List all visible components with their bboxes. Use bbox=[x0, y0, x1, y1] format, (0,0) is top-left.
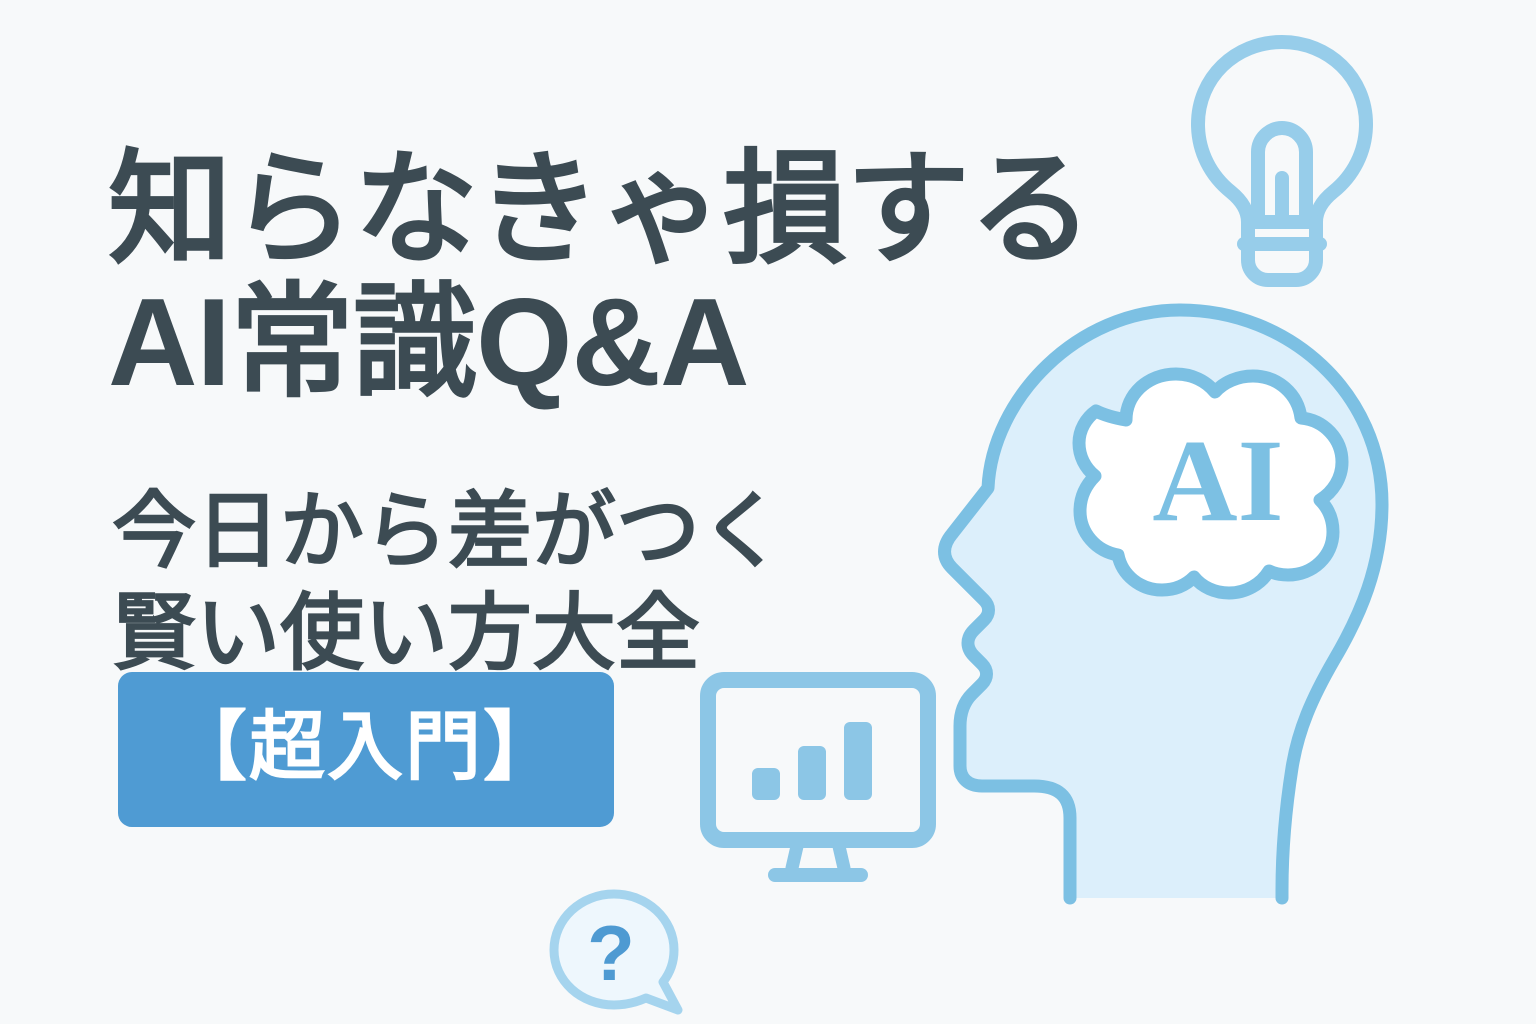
page-subtitle: 今日から差がつく 賢い使い方大全 bbox=[112, 480, 784, 685]
bulb-filament bbox=[1258, 128, 1306, 222]
headline-line-1: 知らなきゃ損する bbox=[108, 141, 1092, 280]
poster-canvas: 知らなきゃ損する AI常識Q&A 今日から差がつく 賢い使い方大全 【超入門】 … bbox=[0, 0, 1536, 1024]
subheadline-line-2: 賢い使い方大全 bbox=[112, 582, 784, 684]
head-outline-back bbox=[1180, 310, 1382, 898]
page-title: 知らなきゃ損する AI常識Q&A bbox=[108, 141, 1092, 413]
brain-ai-label: AI bbox=[1152, 415, 1283, 546]
subheadline-line-1: 今日から差がつく bbox=[112, 480, 784, 582]
lightbulb-illustration bbox=[1182, 28, 1382, 293]
headline-line-2: AI常識Q&A bbox=[108, 274, 1092, 413]
level-badge-label: 【超入門】 bbox=[171, 710, 561, 786]
bulb-glass bbox=[1198, 42, 1366, 222]
level-badge: 【超入門】 bbox=[118, 672, 614, 827]
brain-cloud bbox=[1079, 374, 1342, 593]
text-column: 知らなきゃ損する AI常識Q&A 今日から差がつく 賢い使い方大全 【超入門】 bbox=[108, 0, 1068, 1024]
bulb-base bbox=[1248, 222, 1316, 280]
